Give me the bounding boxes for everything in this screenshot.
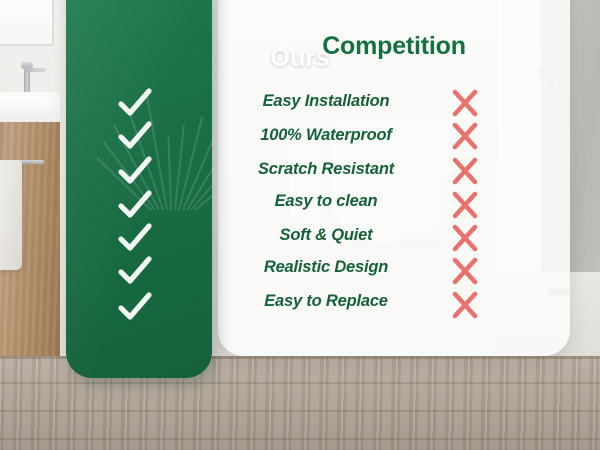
feature-label: Scratch Resistant: [226, 160, 426, 179]
table-row: Scratch Resistant: [0, 156, 600, 186]
table-row: Easy to clean: [0, 190, 600, 220]
table-row: 100% Waterproof: [0, 121, 600, 151]
check-icon: [118, 292, 152, 322]
feature-label: Realistic Design: [226, 258, 426, 277]
cross-icon: [450, 156, 480, 186]
cross-icon: [450, 256, 480, 286]
table-row: Easy to Replace: [0, 290, 600, 320]
table-row: Easy Installation: [0, 88, 600, 118]
comparison-rows: Easy Installation100% WaterproofScratch …: [0, 0, 600, 450]
check-icon: [118, 190, 152, 220]
feature-label: Soft & Quiet: [226, 226, 426, 245]
feature-label: Easy to Replace: [226, 292, 426, 311]
check-icon: [118, 156, 152, 186]
feature-label: Easy Installation: [226, 92, 426, 111]
cross-icon: [450, 121, 480, 151]
feature-label: Easy to clean: [226, 192, 426, 211]
check-icon: [118, 88, 152, 118]
cross-icon: [450, 190, 480, 220]
cross-icon: [450, 290, 480, 320]
check-icon: [118, 223, 152, 253]
table-row: Soft & Quiet: [0, 223, 600, 253]
feature-label: 100% Waterproof: [226, 126, 426, 145]
table-row: Realistic Design: [0, 256, 600, 286]
check-icon: [118, 121, 152, 151]
cross-icon: [450, 88, 480, 118]
check-icon: [118, 256, 152, 286]
cross-icon: [450, 223, 480, 253]
